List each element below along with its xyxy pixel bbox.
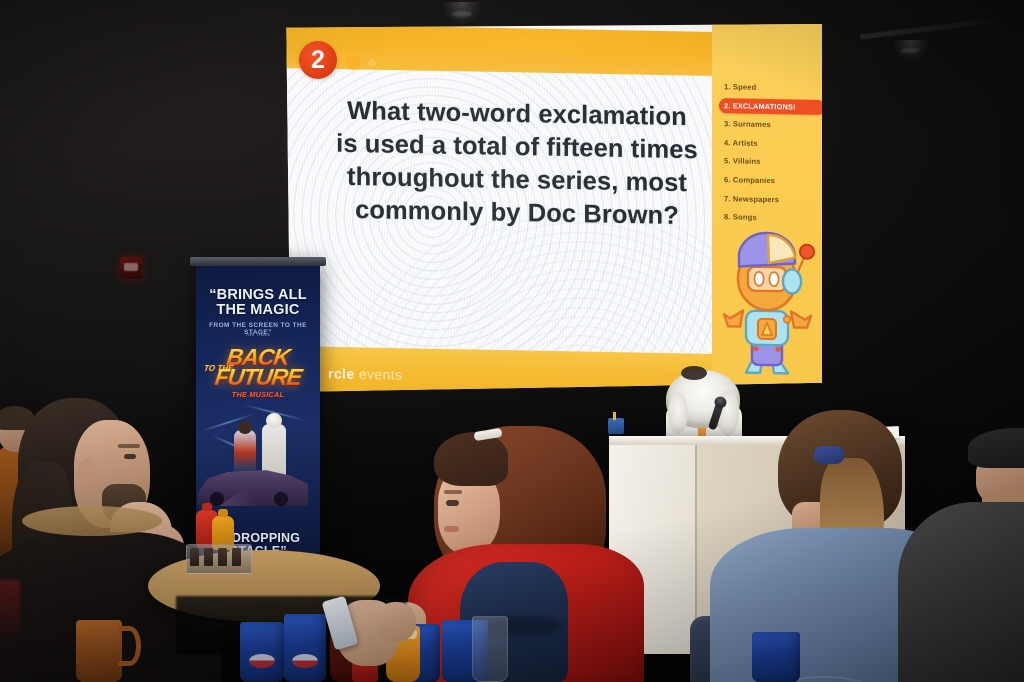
cup-logo-2	[292, 654, 318, 668]
banner-quote-line2: THE MAGIC	[216, 302, 299, 318]
photo-scene: 2 What two-word exclamation is used a to…	[0, 0, 1024, 682]
copper-mug	[76, 620, 122, 682]
bttf-logo-future: FUTURE	[201, 368, 316, 387]
round-item-1: 1. Speed	[724, 82, 820, 93]
sauce-shaker	[232, 548, 241, 566]
watermark-bold: rcle	[328, 365, 355, 381]
menu-text-row3: · · ·	[190, 640, 206, 647]
banner-quote-line1: “BRINGS ALL	[209, 287, 307, 303]
vinegar-shaker	[218, 548, 227, 566]
blue-scrunchie	[814, 446, 844, 464]
fire-alarm-icon	[120, 257, 142, 279]
man-dark-tee	[910, 436, 1024, 682]
round-item-2-active: 2. EXCLAMATIONS!	[719, 98, 822, 115]
man-left-eye	[124, 454, 136, 459]
woman-red-lips	[444, 526, 459, 532]
blue-cup-2	[284, 614, 326, 682]
round-item-7: 7. Newspapers	[724, 194, 820, 205]
condiment-caddy	[186, 510, 252, 572]
woman-red-fringe	[434, 432, 508, 486]
question-block: What two-word exclamation is used a tota…	[334, 95, 700, 234]
round-item-5: 5. Villains	[724, 157, 820, 168]
menu-text-row1: · · · · · · · · · · ·	[190, 602, 256, 609]
banner-top-rail	[190, 257, 326, 266]
brand-watermark: rcle events	[328, 365, 402, 382]
man-right-torso	[898, 502, 1024, 682]
round-list-panel: 1. Speed 2. EXCLAMATIONS! 3. Surnames 4.…	[712, 22, 822, 392]
background-table	[22, 506, 162, 536]
delorean-wheel-rear	[274, 492, 288, 506]
blue-cup-5	[752, 632, 800, 682]
question-text: What two-word exclamation is used a tota…	[334, 95, 700, 234]
watermark-light: events	[359, 366, 403, 383]
round-number-badge: 2	[299, 41, 337, 79]
decor-dot-large	[346, 55, 361, 70]
round-item-3: 3. Surnames	[724, 119, 820, 130]
blue-cup-1	[240, 622, 284, 682]
copper-mug-handle	[118, 626, 141, 666]
man-left-brow	[118, 444, 140, 448]
round-item-4: 4. Artists	[724, 138, 820, 149]
projected-slide: 2 What two-word exclamation is used a to…	[282, 24, 822, 392]
decor-dot-small	[368, 59, 376, 67]
salt-shaker	[190, 548, 199, 566]
shirt-print	[0, 580, 20, 634]
woman-red-eye	[446, 500, 459, 506]
cup-logo-1	[249, 654, 275, 668]
man-left-ear	[78, 458, 96, 482]
banner-quote-source: THE TIMES	[196, 332, 320, 337]
round-item-6: 6. Companies	[724, 175, 820, 186]
pepper-shaker	[204, 548, 213, 566]
woman-red-brow	[444, 490, 462, 494]
wig-dark-patch	[681, 366, 707, 380]
clear-glass	[472, 616, 508, 682]
astronaut-mascot-icon	[712, 222, 822, 384]
banner-quote: “BRINGS ALL THE MAGIC	[196, 288, 320, 318]
foreground-hand-second	[376, 602, 416, 642]
round-list: 1. Speed 2. EXCLAMATIONS! 3. Surnames 4.…	[724, 82, 820, 233]
